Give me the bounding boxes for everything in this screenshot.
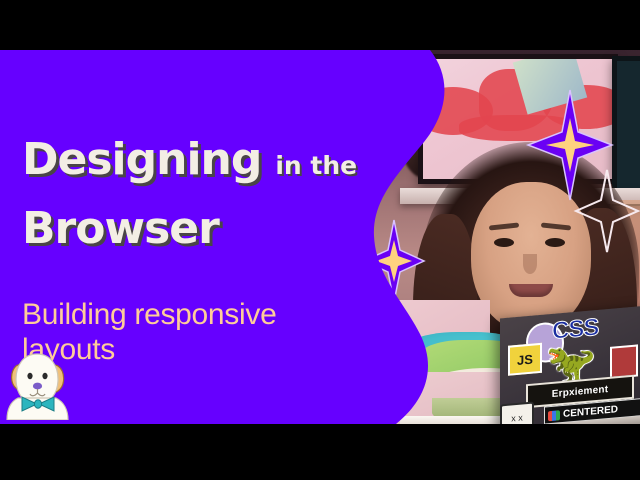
video-frame: CSS JS 🦖 Erpxiement CENTERED x x (0, 50, 640, 424)
letterbox-top (0, 0, 640, 50)
purple-brand-overlay (0, 50, 640, 424)
letterbox-bottom (0, 424, 640, 480)
dog-eye-right (42, 373, 47, 379)
video-player-stage: CSS JS 🦖 Erpxiement CENTERED x x (0, 0, 640, 480)
dog-nose (33, 383, 42, 390)
dog-mascot-logo (6, 348, 72, 420)
dog-head (16, 354, 58, 404)
dog-eye-left (27, 373, 32, 379)
